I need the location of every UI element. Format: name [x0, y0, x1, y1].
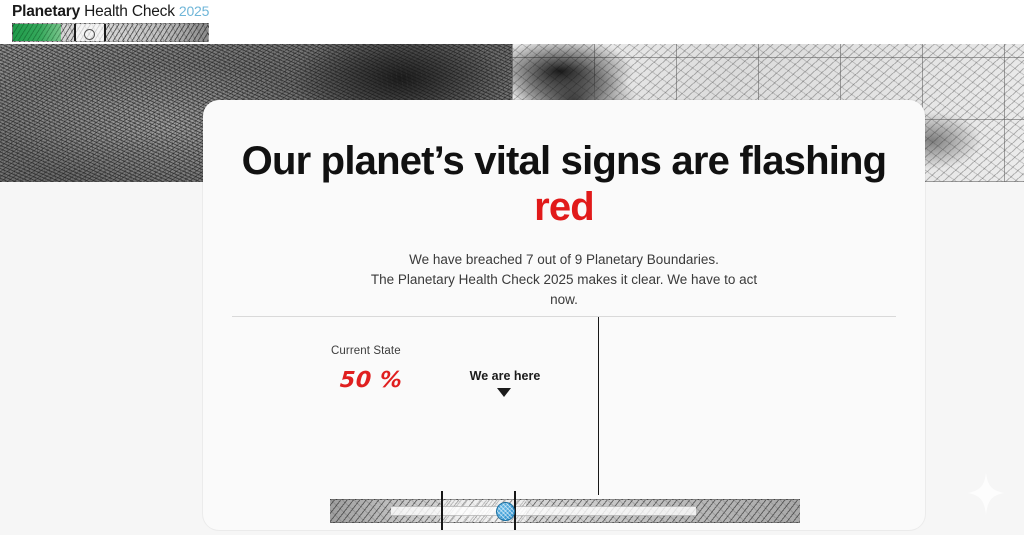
page-root: Planetary Health Check 2025 Our planet’s…	[0, 0, 1024, 535]
page-title: Our planet’s vital signs are flashing re…	[227, 138, 901, 230]
brand-year: 2025	[179, 3, 209, 19]
current-state-percent: 50 %	[339, 368, 403, 393]
brand-logo[interactable]: Planetary Health Check 2025	[12, 2, 212, 42]
we-are-here-label: We are here	[435, 369, 575, 383]
brand-word-planetary: Planetary	[12, 3, 80, 20]
current-position-dot-icon	[496, 502, 515, 521]
subtitle-line-3: now.	[344, 290, 784, 310]
headline-accent: red	[227, 184, 901, 230]
subtitle-line-2: The Planetary Health Check 2025 makes it…	[344, 270, 784, 290]
gauge-position-dot-icon	[84, 29, 95, 40]
brand-word-health-check: Health Check	[84, 3, 175, 20]
current-state-gauge: Current State 50 % We are here Planetary…	[203, 336, 925, 476]
section-divider	[232, 316, 896, 317]
subtitle-line-1: We have breached 7 out of 9 Planetary Bo…	[344, 250, 784, 270]
sparkle-star-icon	[966, 471, 1006, 517]
site-header: Planetary Health Check 2025	[0, 0, 1024, 44]
gauge-green-segment	[13, 24, 61, 41]
hero-subtitle: We have breached 7 out of 9 Planetary Bo…	[344, 250, 784, 310]
banner-dark-blob	[512, 44, 632, 104]
gauge-tick-right	[104, 24, 106, 41]
down-triangle-icon	[497, 388, 511, 397]
hero-card: Our planet’s vital signs are flashing re…	[203, 100, 925, 530]
gauge-tick-left	[74, 24, 76, 41]
brand-logo-text: Planetary Health Check 2025	[12, 2, 212, 21]
gauge-bar	[330, 499, 800, 523]
planetary-boundary-tick	[441, 491, 443, 530]
current-state-label: Current State	[331, 345, 401, 357]
planetary-boundary-gauge-icon	[12, 23, 209, 42]
gauge-inner-window	[391, 506, 696, 516]
headline-main: Our planet’s vital signs are flashing	[242, 139, 887, 183]
